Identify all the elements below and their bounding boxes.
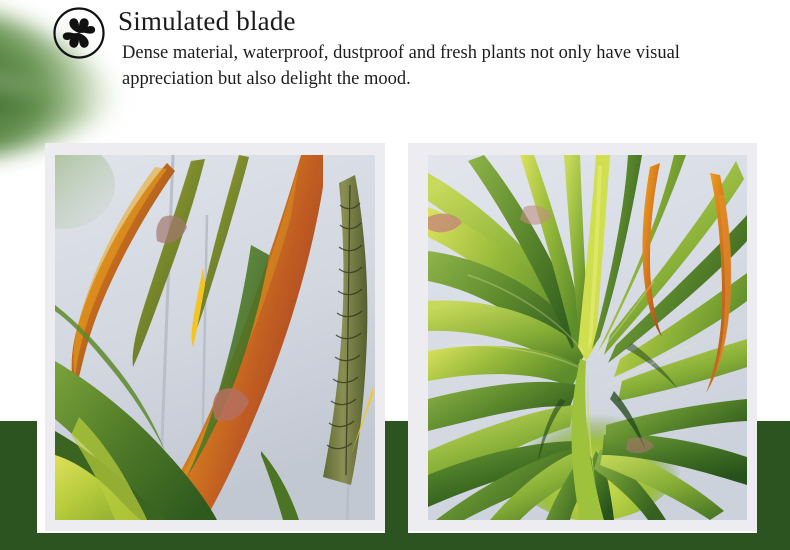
page-subtitle: Dense material, waterproof, dustproof an… (122, 41, 722, 92)
header: Simulated blade Dense material, waterpro… (0, 0, 790, 125)
page-title: Simulated blade (118, 4, 296, 38)
product-photo-right (428, 155, 747, 520)
photo-card-right[interactable] (408, 143, 757, 531)
product-feature-banner: Simulated blade Dense material, waterpro… (0, 0, 790, 550)
clover-badge-icon (52, 6, 106, 60)
product-photo-left (55, 155, 375, 520)
accent-band-middle (385, 421, 408, 533)
accent-band-left (0, 421, 37, 533)
accent-band-bottom (0, 533, 790, 550)
accent-band-right (757, 421, 790, 533)
photo-card-left[interactable] (45, 143, 385, 531)
